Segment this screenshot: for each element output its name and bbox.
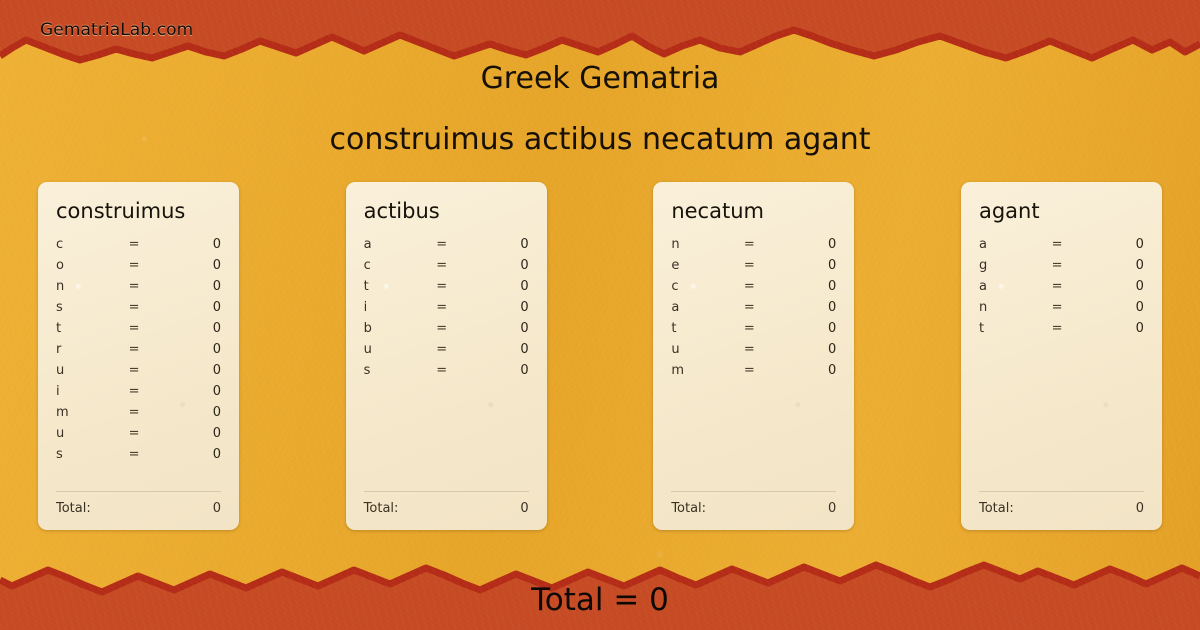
letter-row: n=0 — [671, 237, 836, 258]
letter-row: e=0 — [671, 258, 836, 279]
letter-row: u=0 — [56, 363, 221, 384]
letter-value: 0 — [787, 300, 837, 315]
letter-row: c=0 — [56, 237, 221, 258]
equals-sign: = — [436, 363, 479, 378]
letter-row: c=0 — [671, 279, 836, 300]
letter-row: b=0 — [364, 321, 529, 342]
phrase-subtitle: construimus actibus necatum agant — [0, 122, 1200, 157]
letter: e — [671, 258, 744, 273]
letter: o — [56, 258, 129, 273]
equals-sign: = — [129, 237, 172, 252]
letter-row: g=0 — [979, 258, 1144, 279]
letter: m — [671, 363, 744, 378]
equals-sign: = — [744, 363, 787, 378]
total-value: 0 — [213, 501, 221, 516]
letter: i — [56, 384, 129, 399]
letter-row: u=0 — [671, 342, 836, 363]
letter-row: i=0 — [56, 384, 221, 405]
letter: c — [671, 279, 744, 294]
equals-sign: = — [129, 300, 172, 315]
equals-sign: = — [744, 321, 787, 336]
word-card: actibus a=0 c=0 t=0 i=0 b=0 u=0 s=0 Tota… — [346, 182, 547, 530]
letter-value: 0 — [171, 384, 221, 399]
letter: r — [56, 342, 129, 357]
letter-row: n=0 — [979, 300, 1144, 321]
equals-sign: = — [436, 321, 479, 336]
letter-value: 0 — [479, 279, 529, 294]
equals-sign: = — [436, 279, 479, 294]
letter-row: s=0 — [56, 300, 221, 321]
letter-value: 0 — [171, 447, 221, 462]
word-card-title: necatum — [671, 200, 836, 223]
equals-sign: = — [129, 426, 172, 441]
letter-row: a=0 — [364, 237, 529, 258]
equals-sign: = — [436, 342, 479, 357]
site-logo[interactable]: GematriaLab.com — [40, 20, 193, 40]
letter-value: 0 — [171, 342, 221, 357]
letter-value: 0 — [479, 258, 529, 273]
letter-value: 0 — [787, 342, 837, 357]
letter-value: 0 — [479, 342, 529, 357]
letter-value: 0 — [479, 300, 529, 315]
letter-row: n=0 — [56, 279, 221, 300]
equals-sign: = — [129, 405, 172, 420]
letter: n — [979, 300, 1052, 315]
letter-row: u=0 — [364, 342, 529, 363]
letter-row: i=0 — [364, 300, 529, 321]
equals-sign: = — [129, 321, 172, 336]
gematria-result-page: GematriaLab.com Greek Gematria construim… — [0, 0, 1200, 630]
letter-rows: a=0 c=0 t=0 i=0 b=0 u=0 s=0 — [364, 237, 529, 491]
letter: g — [979, 258, 1052, 273]
letter-value: 0 — [787, 279, 837, 294]
letter-value: 0 — [1094, 300, 1144, 315]
letter: n — [56, 279, 129, 294]
equals-sign: = — [744, 342, 787, 357]
letter-row: t=0 — [56, 321, 221, 342]
word-card: agant a=0 g=0 a=0 n=0 t=0 Total: 0 — [961, 182, 1162, 530]
letter-row: m=0 — [671, 363, 836, 384]
letter-value: 0 — [787, 237, 837, 252]
letter: c — [364, 258, 437, 273]
equals-sign: = — [1052, 321, 1095, 336]
letter-value: 0 — [171, 300, 221, 315]
letter-rows: a=0 g=0 a=0 n=0 t=0 — [979, 237, 1144, 491]
letter: a — [364, 237, 437, 252]
letter-rows: c=0 o=0 n=0 s=0 t=0 r=0 u=0 i=0 m=0 u=0 … — [56, 237, 221, 491]
letter-value: 0 — [1094, 258, 1144, 273]
letter: a — [979, 237, 1052, 252]
letter-value: 0 — [787, 363, 837, 378]
equals-sign: = — [129, 258, 172, 273]
letter-value: 0 — [171, 321, 221, 336]
equals-sign: = — [129, 384, 172, 399]
letter-value: 0 — [171, 426, 221, 441]
card-total-row: Total: 0 — [979, 491, 1144, 516]
letter: t — [671, 321, 744, 336]
card-total-row: Total: 0 — [56, 491, 221, 516]
letter: c — [56, 237, 129, 252]
equals-sign: = — [436, 300, 479, 315]
letter-row: o=0 — [56, 258, 221, 279]
equals-sign: = — [129, 342, 172, 357]
letter-row: a=0 — [671, 300, 836, 321]
letter-value: 0 — [1094, 279, 1144, 294]
equals-sign: = — [129, 447, 172, 462]
letter-value: 0 — [479, 321, 529, 336]
letter-row: s=0 — [364, 363, 529, 384]
equals-sign: = — [129, 363, 172, 378]
equals-sign: = — [1052, 279, 1095, 294]
letter-value: 0 — [479, 363, 529, 378]
word-card-title: agant — [979, 200, 1144, 223]
equals-sign: = — [1052, 300, 1095, 315]
letter-value: 0 — [787, 321, 837, 336]
letter: u — [56, 363, 129, 378]
letter-row: u=0 — [56, 426, 221, 447]
total-value: 0 — [828, 501, 836, 516]
letter: n — [671, 237, 744, 252]
letter: t — [364, 279, 437, 294]
letter-row: s=0 — [56, 447, 221, 468]
grand-total: Total = 0 — [0, 582, 1200, 618]
letter: t — [979, 321, 1052, 336]
total-value: 0 — [1136, 501, 1144, 516]
word-cards-container: construimus c=0 o=0 n=0 s=0 t=0 r=0 u=0 … — [38, 182, 1162, 530]
letter-row: c=0 — [364, 258, 529, 279]
word-card-title: construimus — [56, 200, 221, 223]
letter-value: 0 — [171, 363, 221, 378]
total-label: Total: — [671, 501, 828, 516]
letter-value: 0 — [1094, 237, 1144, 252]
letter: s — [56, 447, 129, 462]
letter-value: 0 — [171, 237, 221, 252]
equals-sign: = — [744, 279, 787, 294]
letter: a — [979, 279, 1052, 294]
letter: u — [56, 426, 129, 441]
letter-row: a=0 — [979, 279, 1144, 300]
letter-row: a=0 — [979, 237, 1144, 258]
letter-value: 0 — [479, 237, 529, 252]
card-total-row: Total: 0 — [364, 491, 529, 516]
equals-sign: = — [1052, 258, 1095, 273]
word-card-title: actibus — [364, 200, 529, 223]
equals-sign: = — [436, 237, 479, 252]
letter-value: 0 — [171, 279, 221, 294]
letter-value: 0 — [171, 405, 221, 420]
equals-sign: = — [436, 258, 479, 273]
letter-row: t=0 — [364, 279, 529, 300]
letter-value: 0 — [1094, 321, 1144, 336]
total-label: Total: — [364, 501, 521, 516]
equals-sign: = — [744, 258, 787, 273]
letter-value: 0 — [787, 258, 837, 273]
letter: b — [364, 321, 437, 336]
letter-row: t=0 — [671, 321, 836, 342]
letter: t — [56, 321, 129, 336]
letter: u — [364, 342, 437, 357]
letter-value: 0 — [171, 258, 221, 273]
equals-sign: = — [129, 279, 172, 294]
page-title: Greek Gematria — [0, 61, 1200, 96]
word-card: necatum n=0 e=0 c=0 a=0 t=0 u=0 m=0 Tota… — [653, 182, 854, 530]
letter-row: t=0 — [979, 321, 1144, 342]
letter: s — [56, 300, 129, 315]
letter: i — [364, 300, 437, 315]
total-value: 0 — [520, 501, 528, 516]
letter-row: r=0 — [56, 342, 221, 363]
letter: m — [56, 405, 129, 420]
equals-sign: = — [1052, 237, 1095, 252]
letter: s — [364, 363, 437, 378]
total-label: Total: — [979, 501, 1136, 516]
letter: u — [671, 342, 744, 357]
total-label: Total: — [56, 501, 213, 516]
letter: a — [671, 300, 744, 315]
letter-row: m=0 — [56, 405, 221, 426]
equals-sign: = — [744, 237, 787, 252]
word-card: construimus c=0 o=0 n=0 s=0 t=0 r=0 u=0 … — [38, 182, 239, 530]
letter-rows: n=0 e=0 c=0 a=0 t=0 u=0 m=0 — [671, 237, 836, 491]
equals-sign: = — [744, 300, 787, 315]
card-total-row: Total: 0 — [671, 491, 836, 516]
